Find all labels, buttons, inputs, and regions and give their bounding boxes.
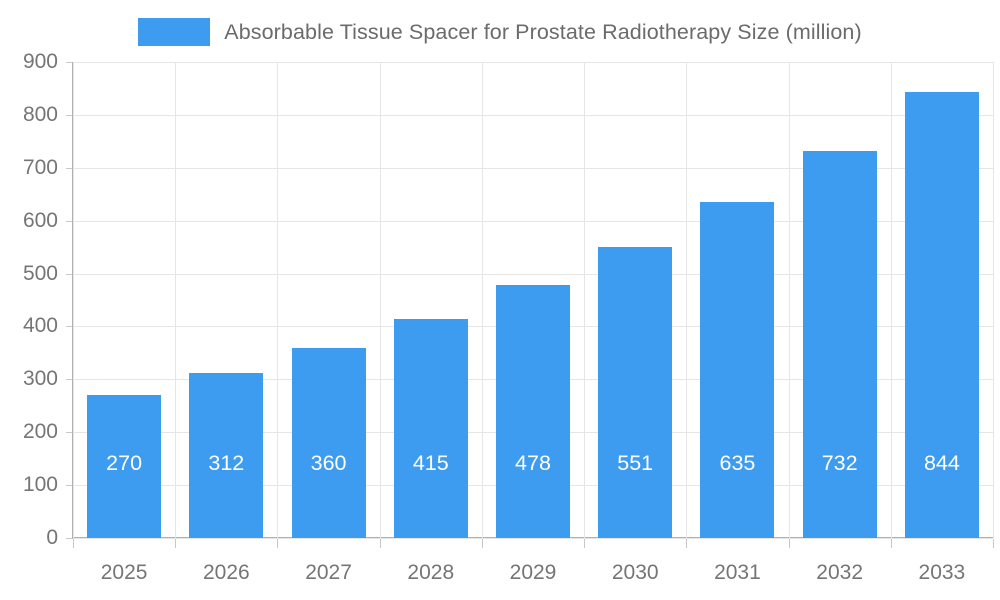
bar-2027[interactable]: 360 bbox=[292, 348, 366, 538]
legend-item-series-1[interactable]: Absorbable Tissue Spacer for Prostate Ra… bbox=[138, 18, 861, 46]
x-axis-tick-mark bbox=[789, 539, 790, 548]
gridline-vertical bbox=[482, 62, 483, 538]
bar-value-label: 732 bbox=[803, 451, 877, 476]
gridline-vertical bbox=[380, 62, 381, 538]
gridline-vertical bbox=[584, 62, 585, 538]
gridline-horizontal bbox=[73, 115, 993, 116]
x-axis-tick-mark bbox=[482, 539, 483, 548]
x-axis-tick-mark bbox=[380, 539, 381, 548]
chart-legend: Absorbable Tissue Spacer for Prostate Ra… bbox=[0, 12, 1000, 52]
bar-2029[interactable]: 478 bbox=[496, 285, 570, 538]
x-axis-ticks: 202520262027202820292030203120322033 bbox=[73, 539, 993, 599]
bar-value-label: 270 bbox=[87, 451, 161, 476]
bar-2026[interactable]: 312 bbox=[189, 373, 263, 538]
gridline-vertical bbox=[891, 62, 892, 538]
bar-value-label: 312 bbox=[189, 451, 263, 476]
x-axis-tick-mark bbox=[891, 539, 892, 548]
bar-value-label: 478 bbox=[496, 451, 570, 476]
x-axis-tick-mark bbox=[175, 539, 176, 548]
gridline-horizontal bbox=[73, 62, 993, 63]
bar-2025[interactable]: 270 bbox=[87, 395, 161, 538]
gridline-vertical bbox=[686, 62, 687, 538]
gridline-vertical bbox=[73, 62, 74, 538]
y-axis-tick-label: 400 bbox=[0, 314, 58, 338]
x-axis-tick-label: 2029 bbox=[510, 561, 557, 585]
bar-value-label: 844 bbox=[905, 451, 979, 476]
legend-label: Absorbable Tissue Spacer for Prostate Ra… bbox=[224, 20, 861, 45]
bar-2033[interactable]: 844 bbox=[905, 92, 979, 538]
x-axis-tick-label: 2028 bbox=[407, 561, 454, 585]
y-axis-ticks: 0100200300400500600700800900 bbox=[0, 0, 66, 600]
bar-2032[interactable]: 732 bbox=[803, 151, 877, 538]
x-axis-tick-mark bbox=[993, 539, 994, 548]
x-axis-tick-label: 2025 bbox=[101, 561, 148, 585]
gridline-vertical bbox=[789, 62, 790, 538]
y-axis-tick-label: 700 bbox=[0, 156, 58, 180]
gridline-vertical bbox=[277, 62, 278, 538]
y-axis-tick-label: 900 bbox=[0, 50, 58, 74]
gridline-vertical bbox=[175, 62, 176, 538]
y-axis-tick-label: 0 bbox=[0, 526, 58, 550]
y-axis-tick-label: 100 bbox=[0, 473, 58, 497]
x-axis-tick-mark bbox=[73, 539, 74, 548]
bar-2031[interactable]: 635 bbox=[700, 202, 774, 538]
x-axis-tick-label: 2026 bbox=[203, 561, 250, 585]
bar-value-label: 551 bbox=[598, 451, 672, 476]
x-axis-tick-mark bbox=[686, 539, 687, 548]
x-axis-tick-label: 2033 bbox=[919, 561, 966, 585]
x-axis-tick-mark bbox=[277, 539, 278, 548]
legend-swatch-icon bbox=[138, 18, 210, 46]
y-axis-tick-label: 600 bbox=[0, 209, 58, 233]
bar-chart: Absorbable Tissue Spacer for Prostate Ra… bbox=[0, 0, 1000, 600]
x-axis-tick-label: 2027 bbox=[305, 561, 352, 585]
bar-value-label: 635 bbox=[700, 451, 774, 476]
bar-2028[interactable]: 415 bbox=[394, 319, 468, 538]
x-axis-tick-mark bbox=[584, 539, 585, 548]
y-axis-tick-label: 800 bbox=[0, 103, 58, 127]
y-axis-tick-label: 500 bbox=[0, 262, 58, 286]
gridline-vertical bbox=[993, 62, 994, 538]
bar-2030[interactable]: 551 bbox=[598, 247, 672, 538]
x-axis-tick-label: 2031 bbox=[714, 561, 761, 585]
y-axis-tick-label: 300 bbox=[0, 367, 58, 391]
x-axis-tick-label: 2032 bbox=[816, 561, 863, 585]
bar-value-label: 415 bbox=[394, 451, 468, 476]
bar-value-label: 360 bbox=[292, 451, 366, 476]
plot-area: 270312360415478551635732844 bbox=[73, 62, 993, 538]
y-axis-tick-label: 200 bbox=[0, 420, 58, 444]
x-axis-tick-label: 2030 bbox=[612, 561, 659, 585]
